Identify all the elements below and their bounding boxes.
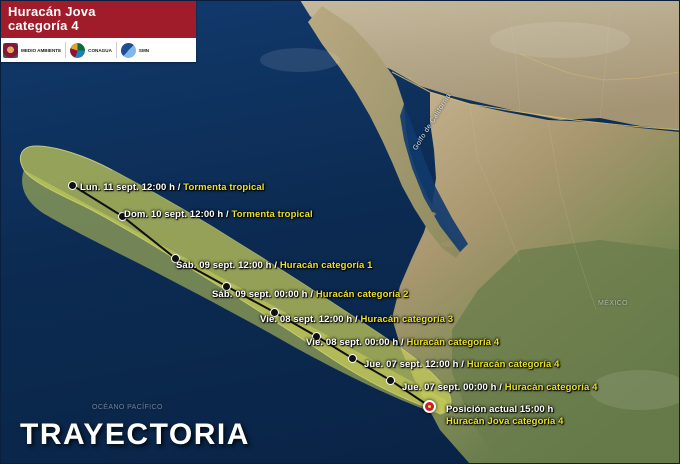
track-label-p8: Lun. 11 sept. 12:00 h / Tormenta tropica… <box>80 182 265 193</box>
banner-logo-strip: MEDIO AMBIENTE CONAGUA SMN <box>0 38 196 62</box>
header-banner: Huracán Jova categoría 4 MEDIO AMBIENTE … <box>0 0 196 62</box>
smn-emblem-icon <box>121 43 136 58</box>
logo-divider-1 <box>65 42 66 58</box>
track-label-p4-date: Vie. 08 sept. 12:00 h <box>260 314 352 325</box>
track-label-p5-category: Huracán categoría 2 <box>316 289 409 300</box>
track-point-p2[interactable] <box>348 354 357 363</box>
logo-conagua-label: CONAGUA <box>88 48 112 53</box>
track-label-p4: Vie. 08 sept. 12:00 h / Huracán categorí… <box>260 314 453 325</box>
logo-conagua: CONAGUA <box>70 43 112 58</box>
track-label-current: Posición actual 15:00 h Huracán Jova cat… <box>446 404 564 428</box>
track-label-p6: Sáb. 09 sept. 12:00 h / Huracán categorí… <box>176 260 373 271</box>
track-label-p1: Jue. 07 sept. 00:00 h / Huracán categorí… <box>402 382 597 393</box>
track-label-p8-category: Tormenta tropical <box>183 182 264 193</box>
banner-title-block: Huracán Jova categoría 4 <box>0 0 196 38</box>
track-label-p6-category: Huracán categoría 1 <box>280 260 373 271</box>
logo-smn-label: SMN <box>139 48 149 53</box>
track-label-p7-date: Dom. 10 sept. 12:00 h <box>124 209 223 220</box>
hurricane-track-map: Golfo de California MÉXICO Lun. 11 sept.… <box>0 0 680 464</box>
track-label-p8-date: Lun. 11 sept. 12:00 h <box>80 182 175 193</box>
track-label-p6-sep: / <box>274 260 277 271</box>
track-label-p1-category: Huracán categoría 4 <box>505 382 598 393</box>
track-label-p2-category: Huracán categoría 4 <box>467 359 560 370</box>
track-label-p2-sep: / <box>461 359 464 370</box>
storm-name: Huracán Jova <box>8 5 196 19</box>
geo-label-pacific: OCÉANO PACÍFICO <box>92 404 163 411</box>
track-label-p7-category: Tormenta tropical <box>232 209 313 220</box>
track-label-p7: Dom. 10 sept. 12:00 h / Tormenta tropica… <box>124 209 313 220</box>
track-point-p1[interactable] <box>386 376 395 385</box>
track-label-p3-sep: / <box>401 337 404 348</box>
landmass-layer <box>0 0 680 464</box>
track-point-p8[interactable] <box>68 181 77 190</box>
logo-divider-2 <box>116 42 117 58</box>
current-position-category: Huracán Jova categoría 4 <box>446 416 564 428</box>
current-position-marker[interactable] <box>423 400 436 413</box>
track-label-p3-date: Vie. 08 sept. 00:00 h <box>306 337 398 348</box>
track-label-p3-category: Huracán categoría 4 <box>406 337 499 348</box>
track-label-p5-sep: / <box>310 289 313 300</box>
logo-semarnat-label: MEDIO AMBIENTE <box>21 48 61 53</box>
track-label-p4-category: Huracán categoría 3 <box>360 314 453 325</box>
page-title: TRAYECTORIA <box>20 418 250 452</box>
track-label-p6-date: Sáb. 09 sept. 12:00 h <box>176 260 272 271</box>
storm-category: categoría 4 <box>8 19 196 33</box>
track-label-p5-date: Sáb. 09 sept. 00:00 h <box>212 289 308 300</box>
track-label-p4-sep: / <box>355 314 358 325</box>
track-label-p8-sep: / <box>178 182 181 193</box>
semarnat-emblem-icon <box>3 43 18 58</box>
track-label-p2: Jue. 07 sept. 12:00 h / Huracán categorí… <box>364 359 559 370</box>
track-label-p1-date: Jue. 07 sept. 00:00 h <box>402 382 497 393</box>
geo-label-mexico: MÉXICO <box>598 300 628 307</box>
track-label-p2-date: Jue. 07 sept. 12:00 h <box>364 359 459 370</box>
track-label-p5: Sáb. 09 sept. 00:00 h / Huracán categorí… <box>212 289 409 300</box>
track-label-p7-sep: / <box>226 209 229 220</box>
conagua-emblem-icon <box>70 43 85 58</box>
current-position-time: Posición actual 15:00 h <box>446 404 564 416</box>
track-label-p1-sep: / <box>499 382 502 393</box>
track-label-p3: Vie. 08 sept. 00:00 h / Huracán categorí… <box>306 337 499 348</box>
logo-semarnat: MEDIO AMBIENTE <box>3 43 61 58</box>
logo-smn: SMN <box>121 43 149 58</box>
